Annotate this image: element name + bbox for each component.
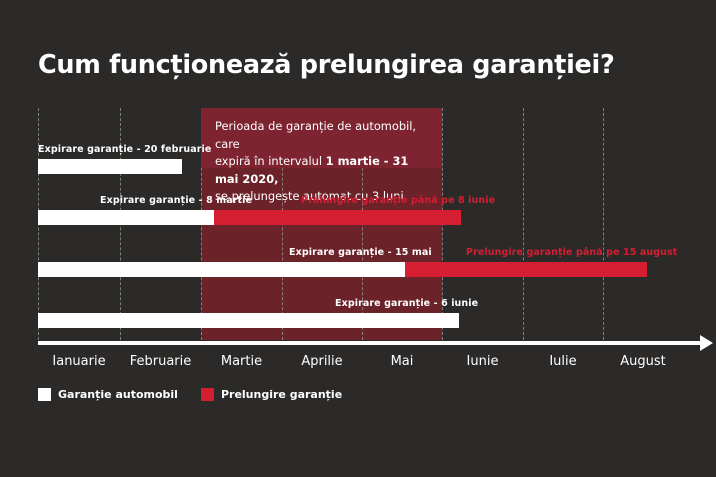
timeline-row-2: Expirare garanție - 8 martie Prelungire … — [0, 195, 716, 229]
white-swatch-icon — [38, 388, 51, 401]
page-title: Cum funcționează prelungirea garanției? — [38, 50, 614, 80]
timeline-chart-area: Perioada de garanție de automobil, care … — [0, 108, 716, 340]
legend-label-prelungire-garantie: Prelungire garanție — [221, 388, 342, 401]
month-label-mai: Mai — [362, 354, 442, 369]
timeline-row-1: Expirare garanție - 20 februarie — [0, 144, 716, 178]
timeline-row-3: Expirare garanție - 15 mai Prelungire ga… — [0, 247, 716, 281]
row-3-extension-bar — [405, 262, 647, 277]
red-swatch-icon — [201, 388, 214, 401]
chart-legend: Garanție automobil Prelungire garanție — [38, 388, 356, 401]
row-4-warranty-bar — [38, 313, 459, 328]
row-2-warranty-bar — [38, 210, 214, 225]
row-2-warranty-label: Expirare garanție - 8 martie — [100, 195, 252, 206]
legend-label-garantie-automobil: Garanție automobil — [58, 388, 178, 401]
timeline-axis — [38, 341, 702, 345]
row-3-warranty-label: Expirare garanție - 15 mai — [289, 247, 432, 258]
month-label-martie: Martie — [201, 354, 282, 369]
row-4-warranty-label: Expirare garanție - 6 iunie — [335, 298, 478, 309]
month-label-ianuarie: Ianuarie — [38, 354, 120, 369]
row-3-warranty-bar — [38, 262, 405, 277]
row-1-warranty-bar — [38, 159, 182, 174]
timeline-row-4: Expirare garanție - 6 iunie — [0, 298, 716, 332]
row-2-extension-label: Prelungire garanție până pe 8 iunie — [301, 195, 495, 206]
axis-arrow-icon — [700, 335, 713, 351]
legend-item-prelungire-garantie: Prelungire garanție — [201, 388, 342, 401]
row-2-extension-bar — [214, 210, 461, 225]
month-label-august: August — [603, 354, 683, 369]
row-3-extension-label: Prelungire garanție până pe 15 august — [466, 247, 677, 258]
month-label-iunie: Iunie — [442, 354, 523, 369]
row-1-warranty-label: Expirare garanție - 20 februarie — [38, 144, 211, 155]
warranty-extension-infographic: Cum funcționează prelungirea garanției? … — [0, 0, 716, 477]
month-label-aprilie: Aprilie — [282, 354, 362, 369]
legend-item-garantie-automobil: Garanție automobil — [38, 388, 178, 401]
month-label-iulie: Iulie — [523, 354, 603, 369]
month-label-februarie: Februarie — [120, 354, 201, 369]
